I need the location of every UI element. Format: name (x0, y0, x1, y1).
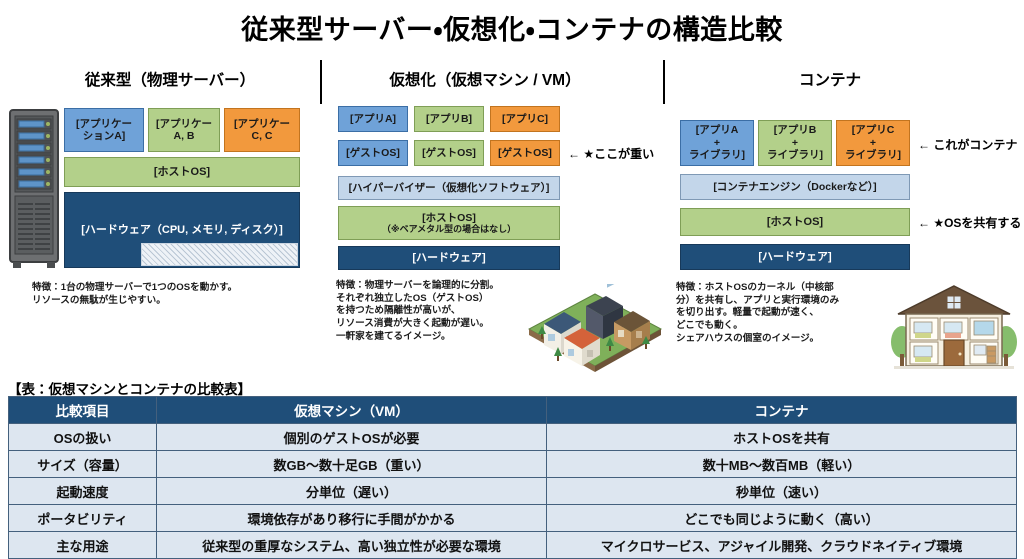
vm-box-guest-os-b: [ゲストOS] (414, 140, 484, 166)
table-cell-label: 主な用途 (9, 532, 157, 559)
container-box-app-a: [アプリA + ライブラリ] (680, 120, 754, 166)
column-divider-right (663, 60, 665, 104)
vm-box-host-os: [ホストOS] （※ベアメタル型の場合はなし） (338, 206, 560, 240)
table-cell-label: ポータビリティ (9, 505, 157, 532)
container-box-hardware: [ハードウェア] (680, 244, 910, 270)
table-row: 起動速度 分単位（遅い） 秒単位（速い） (9, 478, 1017, 505)
table-cell-vm: 数GB〜数十足GB（重い） (157, 451, 547, 478)
table-cell-vm: 個別のゲストOSが必要 (157, 424, 547, 451)
vm-box-hypervisor: [ハイパーバイザー（仮想化ソフトウェア）] (338, 176, 560, 200)
sharehouse-illustration (890, 280, 1018, 375)
container-annotation-shared-os: ← ★OSを共有する (918, 214, 1021, 231)
table-cell-container: 秒単位（速い） (547, 478, 1017, 505)
server-tower-illustration (8, 108, 60, 270)
table-header-row: 比較項目 仮想マシン（VM） コンテナ (9, 397, 1017, 424)
table-row: OSの扱い 個別のゲストOSが必要 ホストOSを共有 (9, 424, 1017, 451)
table-row: ポータビリティ 環境依存があり移行に手間がかかる どこでも同じように動く（高い） (9, 505, 1017, 532)
table-cell-label: サイズ（容量） (9, 451, 157, 478)
vm-host-os-note: （※ベアメタル型の場合はなし） (382, 224, 516, 235)
vm-feature-text: 特徴：物理サーバーを論理的に分割。 それぞれ独立したOS（ゲストOS） を持つた… (336, 280, 536, 343)
houses-illustration (528, 284, 663, 376)
vm-box-app-c: [アプリC] (490, 106, 560, 132)
trad-feature-text: 特徴：1台の物理サーバーで1つのOSを動かす。 リソースの無駄が生じやすい。 (32, 282, 322, 307)
vm-annotation-heavy: ← ★ここが重い (568, 145, 654, 162)
vm-box-guest-os-a: [ゲストOS] (338, 140, 408, 166)
table-header-container: コンテナ (547, 397, 1017, 424)
table-cell-container: マイクロサービス、アジャイル開発、クラウドネイティブ環境 (547, 532, 1017, 559)
vm-box-guest-os-c: [ゲストOS] (490, 140, 560, 166)
table-row: 主な用途 従来型の重厚なシステム、高い独立性が必要な環境 マイクロサービス、アジ… (9, 532, 1017, 559)
container-feature-text: 特徴：ホストOSのカーネル（中核部 分）を共有し、アプリと実行環境のみ を切り出… (676, 282, 891, 345)
page-title: 従来型サーバー・仮想化・コンテナの構造比較 (0, 8, 1024, 47)
table-cell-label: OSの扱い (9, 424, 157, 451)
table-cell-vm: 分単位（遅い） (157, 478, 547, 505)
column-heading-container: コンテナ (700, 68, 960, 90)
table-cell-container: ホストOSを共有 (547, 424, 1017, 451)
trad-box-host-os: [ホストOS] (64, 157, 300, 187)
infographic-root: 従来型サーバー・仮想化・コンテナの構造比較 従来型（物理サーバー） 仮想化（仮想… (0, 0, 1024, 559)
container-annotation-container: ← これがコンテナ (918, 136, 1017, 153)
table-header-item: 比較項目 (9, 397, 157, 424)
vm-box-app-b: [アプリB] (414, 106, 484, 132)
container-box-app-c: [アプリC + ライブラリ] (836, 120, 910, 166)
trad-box-app-c: [アプリケー C, C (224, 108, 300, 152)
vm-host-os-label: [ホストOS] (422, 212, 476, 224)
table-cell-container: 数十MB〜数百MB（軽い） (547, 451, 1017, 478)
table-caption: 【表：仮想マシンとコンテナの比較表】 (8, 378, 251, 398)
table-cell-vm: 環境依存があり移行に手間がかかる (157, 505, 547, 532)
column-heading-virtualization: 仮想化（仮想マシン / VM） (345, 68, 625, 90)
column-heading-traditional: 従来型（物理サーバー） (40, 68, 300, 90)
trad-hardware-hatch-swatch (141, 243, 298, 266)
table-cell-label: 起動速度 (9, 478, 157, 505)
container-box-app-b: [アプリB + ライブラリ] (758, 120, 832, 166)
column-divider-left (320, 60, 322, 104)
table-header-vm: 仮想マシン（VM） (157, 397, 547, 424)
container-box-engine: [コンテナエンジン（Dockerなど）] (680, 174, 910, 200)
vm-box-app-a: [アプリA] (338, 106, 408, 132)
table-cell-vm: 従来型の重厚なシステム、高い独立性が必要な環境 (157, 532, 547, 559)
table-row: サイズ（容量） 数GB〜数十足GB（重い） 数十MB〜数百MB（軽い） (9, 451, 1017, 478)
vm-box-hardware: [ハードウェア] (338, 246, 560, 270)
comparison-table: 比較項目 仮想マシン（VM） コンテナ OSの扱い 個別のゲストOSが必要 ホス… (8, 396, 1017, 559)
container-box-host-os: [ホストOS] (680, 208, 910, 236)
trad-box-app-a: [アプリケー ションA] (64, 108, 144, 152)
trad-box-app-b: [アプリケー A, B (148, 108, 220, 152)
table-cell-container: どこでも同じように動く（高い） (547, 505, 1017, 532)
